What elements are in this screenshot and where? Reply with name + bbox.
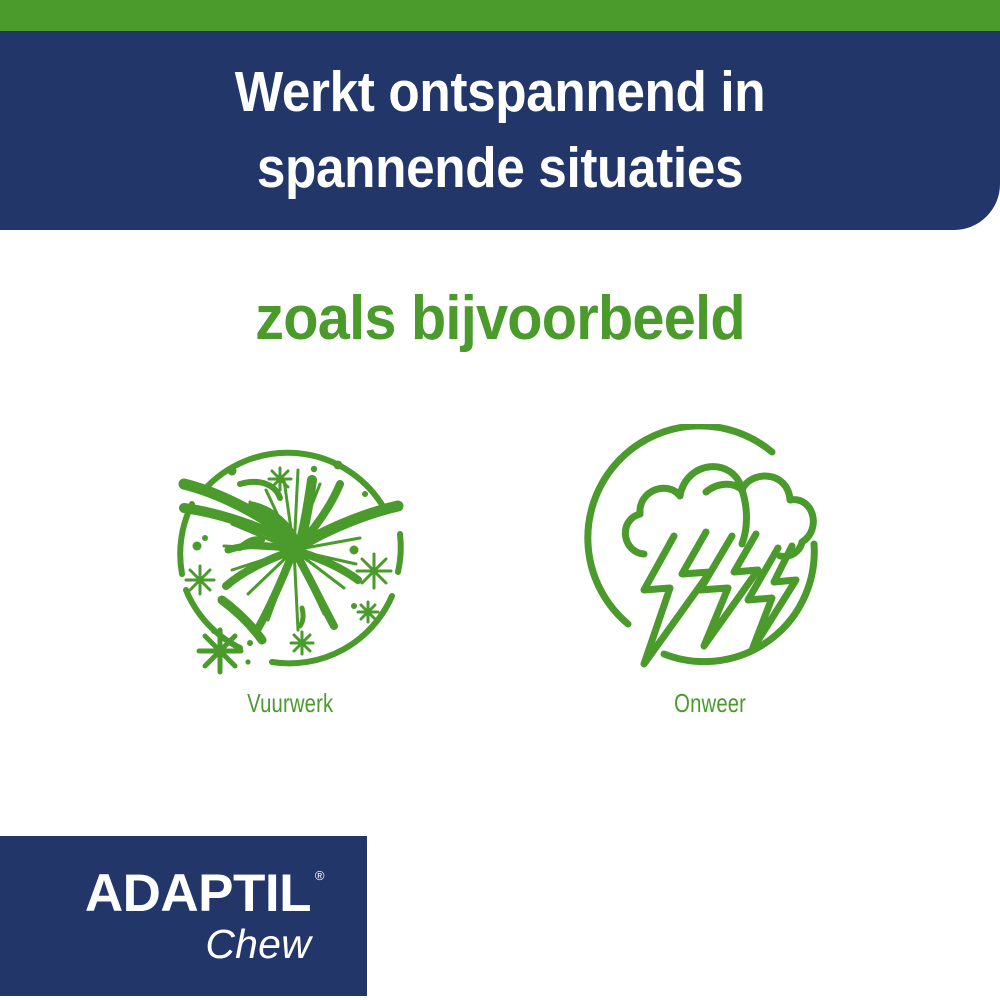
thunderstorm-icon xyxy=(582,424,838,680)
example-label-onweer: Onweer xyxy=(674,688,746,719)
brand-name: ADAPTIL xyxy=(85,864,311,923)
brand-logo-block: ADAPTIL® Chew xyxy=(0,836,367,996)
header-panel: Werkt ontspannend in spannende situaties xyxy=(0,31,1000,230)
example-item-onweer: Onweer xyxy=(580,424,840,719)
promo-card: Werkt ontspannend in spannende situaties… xyxy=(0,0,1000,1000)
brand-variant: Chew xyxy=(205,924,311,965)
brand-wordmark: ADAPTIL® xyxy=(85,867,311,920)
top-green-accent-bar xyxy=(0,0,1000,31)
example-item-vuurwerk: Vuurwerk xyxy=(160,424,420,719)
fireworks-icon xyxy=(162,424,418,680)
registered-trademark-icon: ® xyxy=(315,869,324,882)
examples-row: Vuurwerk Onweer xyxy=(0,424,1000,744)
example-label-vuurwerk: Vuurwerk xyxy=(247,688,333,719)
subheading: zoals bijvoorbeeld xyxy=(35,288,965,350)
header-title: Werkt ontspannend in spannende situaties xyxy=(122,55,878,205)
